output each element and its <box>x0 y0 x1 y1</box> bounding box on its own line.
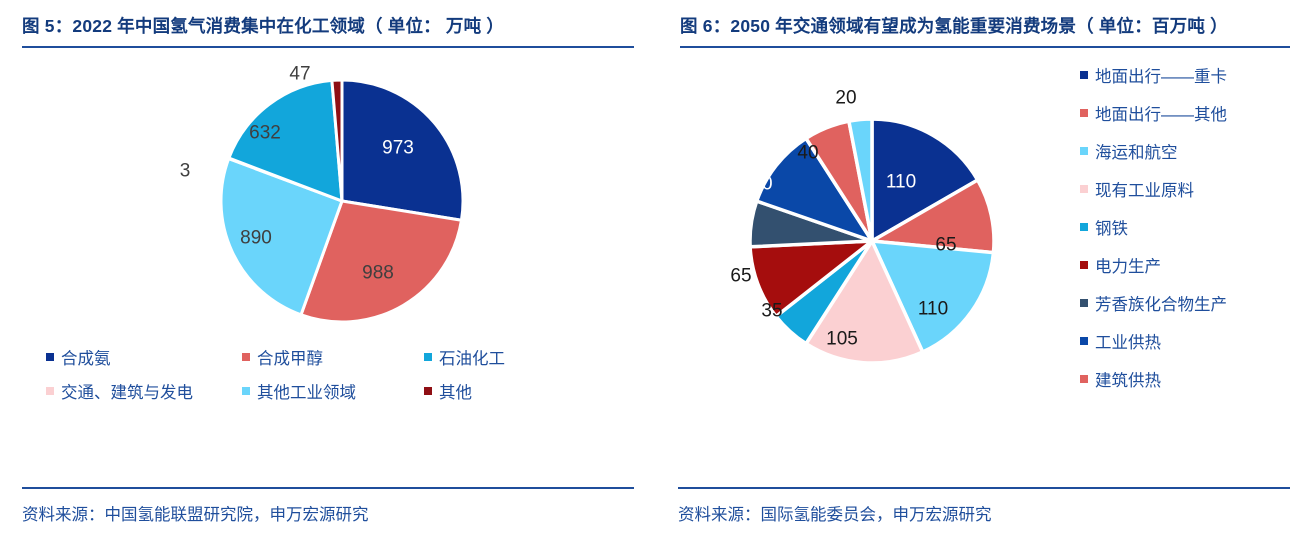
legend-swatch-icon <box>424 387 432 395</box>
legend-label: 钢铁 <box>1095 215 1128 239</box>
figure-6-title: 图 6：2050 年交通领域有望成为氢能重要消费场景（ 单位：百万吨 ） <box>680 0 1290 40</box>
legend-swatch-icon <box>1080 109 1088 117</box>
figure-5-pie-chart: 973988890363247 <box>0 58 660 358</box>
figure-6-source-rule <box>678 487 1290 489</box>
figure-6-legend: 地面出行——重卡 地面出行——其他 海运和航空 现有工业原料 钢铁 <box>1080 56 1227 398</box>
legend-swatch-icon <box>1080 337 1088 345</box>
pie-slice-value-label: 110 <box>918 299 948 320</box>
legend-swatch-icon <box>46 353 54 361</box>
legend-item-qita-gongye[interactable]: 其他工业领域 <box>242 374 424 408</box>
figure-6-pie-svg: 11065110105356540704020 <box>656 56 1076 396</box>
legend-label: 其他工业领域 <box>257 379 356 403</box>
figure-5-source-rule <box>22 487 634 489</box>
pie-slice-value-label: 20 <box>835 88 856 109</box>
legend-label: 地面出行——重卡 <box>1095 63 1227 87</box>
pie-slice-value-label: 890 <box>240 228 272 249</box>
legend-item-building-heat[interactable]: 建筑供热 <box>1080 360 1227 398</box>
legend-item-aromatics[interactable]: 芳香族化合物生产 <box>1080 284 1227 322</box>
legend-label: 现有工业原料 <box>1095 177 1194 201</box>
pie-slice-value-label: 3 <box>180 161 191 182</box>
figure-5-title: 图 5：2022 年中国氢气消费集中在化工领域（ 单位： 万吨 ） <box>22 0 634 40</box>
pie-slice-value-label: 632 <box>249 123 281 144</box>
legend-item-industrial-heat[interactable]: 工业供热 <box>1080 322 1227 360</box>
legend-swatch-icon <box>1080 375 1088 383</box>
pie-slice-value-label: 65 <box>730 266 751 287</box>
legend-item-ground-other[interactable]: 地面出行——其他 <box>1080 94 1227 132</box>
figure-6-chart-area: 11065110105356540704020 地面出行——重卡 地面出行——其… <box>680 48 1290 438</box>
legend-label: 电力生产 <box>1095 253 1161 277</box>
legend-item-existing-feedstock[interactable]: 现有工业原料 <box>1080 170 1227 208</box>
figures-page: 图 5：2022 年中国氢气消费集中在化工领域（ 单位： 万吨 ） 973988… <box>0 0 1313 537</box>
legend-label: 建筑供热 <box>1095 367 1161 391</box>
legend-item-steel[interactable]: 钢铁 <box>1080 208 1227 246</box>
figure-6-panel: 图 6：2050 年交通领域有望成为氢能重要消费场景（ 单位：百万吨 ） 110… <box>656 0 1312 537</box>
legend-swatch-icon <box>1080 261 1088 269</box>
legend-swatch-icon <box>46 387 54 395</box>
legend-swatch-icon <box>1080 223 1088 231</box>
legend-swatch-icon <box>1080 71 1088 79</box>
legend-item-qita[interactable]: 其他 <box>424 374 594 408</box>
legend-swatch-icon <box>424 353 432 361</box>
legend-item-marine-aviation[interactable]: 海运和航空 <box>1080 132 1227 170</box>
figure-5-source: 资料来源：中国氢能联盟研究院，申万宏源研究 <box>22 501 369 525</box>
pie-slice-value-label: 973 <box>382 138 414 159</box>
pie-slice-value-label: 70 <box>751 174 772 195</box>
legend-item-shiyou-huagong[interactable]: 石油化工 <box>424 340 594 374</box>
legend-label: 石油化工 <box>439 345 505 369</box>
legend-label: 地面出行——其他 <box>1095 101 1227 125</box>
legend-item-ground-heavy-truck[interactable]: 地面出行——重卡 <box>1080 56 1227 94</box>
figure-5-pie-svg: 973988890363247 <box>0 58 660 358</box>
figure-5-chart-area: 973988890363247 合成氨 合成甲醇 石油化工 <box>22 48 634 438</box>
legend-item-power-generation[interactable]: 电力生产 <box>1080 246 1227 284</box>
pie-slice-value-label: 40 <box>721 219 742 240</box>
legend-item-jiaotong-jianzhu-fadian[interactable]: 交通、建筑与发电 <box>46 374 242 408</box>
legend-swatch-icon <box>1080 299 1088 307</box>
figure-5-legend: 合成氨 合成甲醇 石油化工 交通、建筑与发电 其他工业领域 <box>46 340 646 408</box>
legend-item-hecheng-jiachun[interactable]: 合成甲醇 <box>242 340 424 374</box>
pie-slice-value-label: 110 <box>886 172 916 193</box>
legend-label: 其他 <box>439 379 472 403</box>
legend-item-hecheng-an[interactable]: 合成氨 <box>46 340 242 374</box>
legend-label: 工业供热 <box>1095 329 1161 353</box>
legend-swatch-icon <box>242 387 250 395</box>
pie-slice-value-label: 988 <box>362 263 394 284</box>
legend-label: 芳香族化合物生产 <box>1095 291 1227 315</box>
pie-slice-value-label: 40 <box>797 143 818 164</box>
legend-label: 交通、建筑与发电 <box>61 379 193 403</box>
legend-swatch-icon <box>1080 185 1088 193</box>
pie-slice-value-label: 65 <box>935 235 956 256</box>
pie-slice-value-label: 35 <box>761 301 782 322</box>
legend-label: 海运和航空 <box>1095 139 1178 163</box>
pie-slice-value-label: 47 <box>289 64 310 85</box>
legend-label: 合成甲醇 <box>257 345 323 369</box>
legend-label: 合成氨 <box>61 345 111 369</box>
figure-6-source: 资料来源：国际氢能委员会，申万宏源研究 <box>678 501 992 525</box>
legend-swatch-icon <box>1080 147 1088 155</box>
legend-swatch-icon <box>242 353 250 361</box>
pie-slice-value-label: 105 <box>826 329 858 350</box>
figure-5-panel: 图 5：2022 年中国氢气消费集中在化工领域（ 单位： 万吨 ） 973988… <box>0 0 656 537</box>
figure-6-pie-chart: 11065110105356540704020 <box>656 56 1076 396</box>
